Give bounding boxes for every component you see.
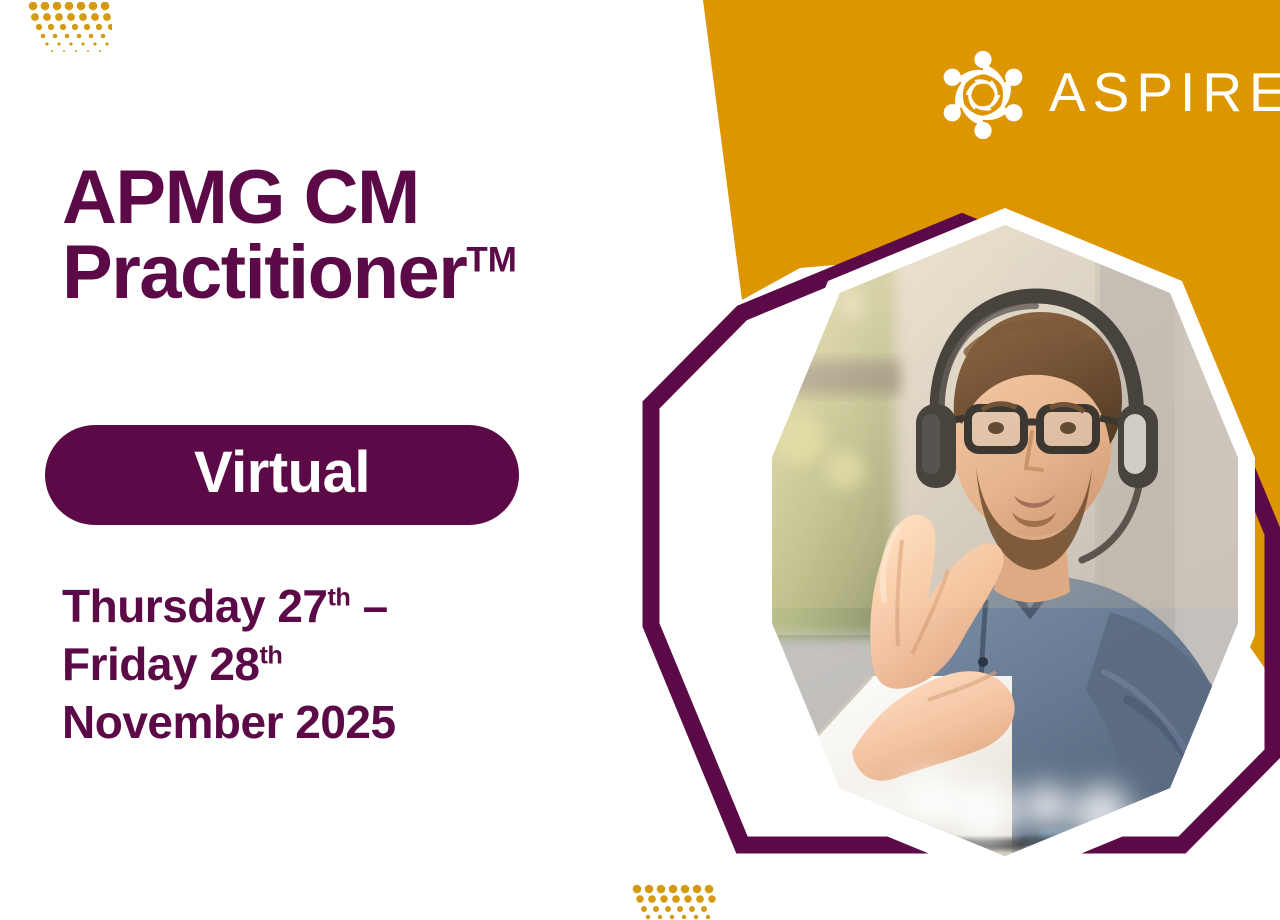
- date-line-3: November 2025: [62, 694, 622, 752]
- bokeh: [860, 773, 1131, 844]
- date-line-2: Friday 28th: [62, 636, 622, 694]
- title-line-1: APMG CM: [62, 155, 419, 240]
- page-title: APMG CM PractitionerTM: [62, 160, 742, 310]
- aspire-swirl-icon: [935, 47, 1031, 143]
- date-line-2-text: Friday 28: [62, 638, 260, 690]
- white-octagon-frame: [755, 208, 1255, 885]
- photo-content: [755, 208, 1259, 868]
- title-line-2: PractitionerTM: [62, 235, 742, 310]
- title-line-2-main: Practitioner: [62, 230, 466, 315]
- poster-canvas: APMG CM PractitionerTM Virtual Thursday …: [0, 0, 1280, 920]
- date-range-dash: –: [350, 580, 387, 632]
- purple-octagon-outline: [651, 222, 1273, 845]
- date-line-1-text: Thursday 27: [62, 580, 328, 632]
- headphones: [916, 296, 1158, 560]
- halftone-dots-bottom: [632, 884, 716, 920]
- halftone-dots-top-left: [28, 2, 112, 54]
- hands: [852, 515, 1015, 781]
- event-dates: Thursday 27th – Friday 28th November 202…: [62, 578, 622, 752]
- aspire-logo: ASPIRE: [935, 45, 1225, 145]
- delivery-mode-badge: Virtual: [45, 425, 519, 525]
- trademark-symbol: TM: [466, 241, 516, 280]
- date-line-1-ordinal: th: [328, 584, 351, 612]
- aspire-wordmark: ASPIRE: [1049, 65, 1280, 126]
- delivery-mode-label: Virtual: [194, 444, 370, 506]
- date-line-1: Thursday 27th –: [62, 578, 622, 636]
- date-line-2-ordinal: th: [260, 642, 283, 670]
- glasses: [934, 408, 1126, 450]
